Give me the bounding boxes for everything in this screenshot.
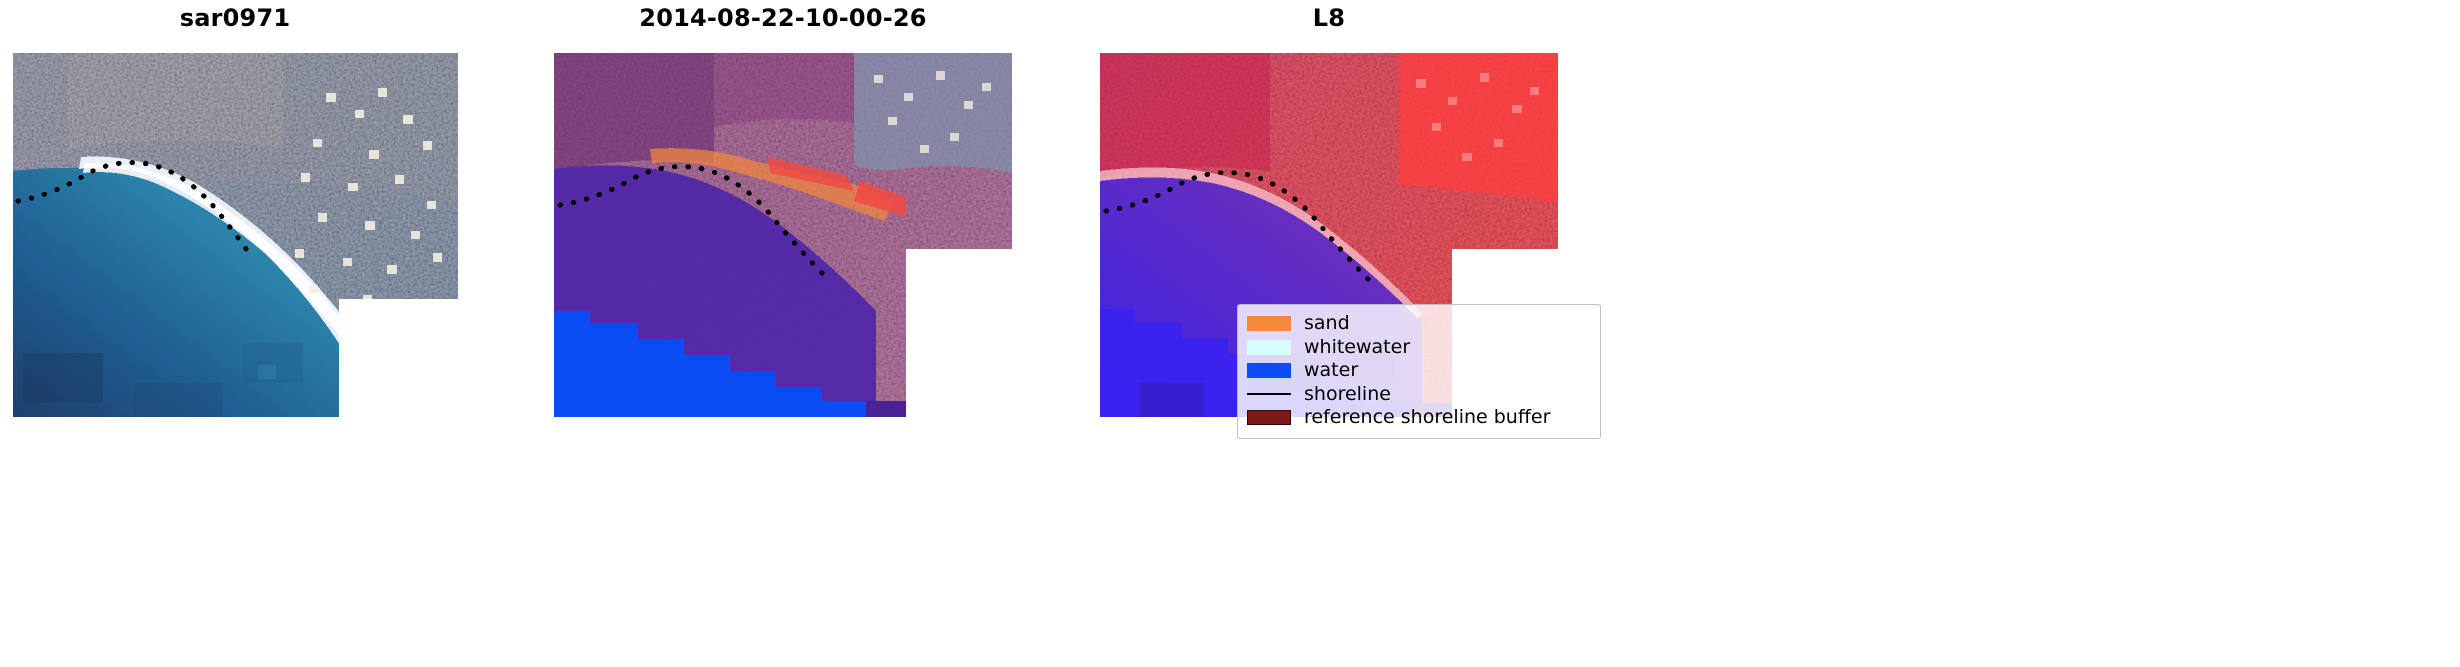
legend-label-whitewater: whitewater: [1304, 336, 1410, 359]
legend-item-water: water: [1247, 359, 1590, 383]
legend-item-sand: sand: [1247, 312, 1590, 336]
panel-sar-rgb: sar0971: [0, 0, 470, 667]
panel-title-sar-rgb: sar0971: [0, 4, 470, 32]
axes-sar-rgb: [13, 53, 458, 417]
legend-swatch-water: [1247, 363, 1291, 378]
panel-classified: 2014-08-22-10-00-26: [540, 0, 1026, 667]
figure-canvas: sar0971: [0, 0, 2460, 667]
legend-item-shoreline: shoreline: [1247, 383, 1590, 407]
panel-title-classified: 2014-08-22-10-00-26: [540, 4, 1026, 32]
legend-label-water: water: [1304, 359, 1358, 382]
satellite-image-true-color: [13, 53, 458, 417]
legend-line-shoreline: [1247, 387, 1291, 402]
legend-swatch-reference-shoreline-buffer: [1247, 410, 1291, 425]
classification-overlay-image: [554, 53, 1012, 417]
legend-item-whitewater: whitewater: [1247, 336, 1590, 360]
legend-label-reference-shoreline-buffer: reference shoreline buffer: [1304, 406, 1550, 429]
legend-label-shoreline: shoreline: [1304, 383, 1391, 406]
legend-swatch-sand: [1247, 316, 1291, 331]
legend: sand whitewater water shoreline referenc…: [1237, 304, 1601, 439]
axes-classified: [554, 53, 1012, 417]
panel-title-l8: L8: [1086, 4, 1572, 32]
legend-item-reference-shoreline-buffer: reference shoreline buffer: [1247, 406, 1590, 430]
legend-label-sand: sand: [1304, 312, 1350, 335]
legend-swatch-whitewater: [1247, 340, 1291, 355]
